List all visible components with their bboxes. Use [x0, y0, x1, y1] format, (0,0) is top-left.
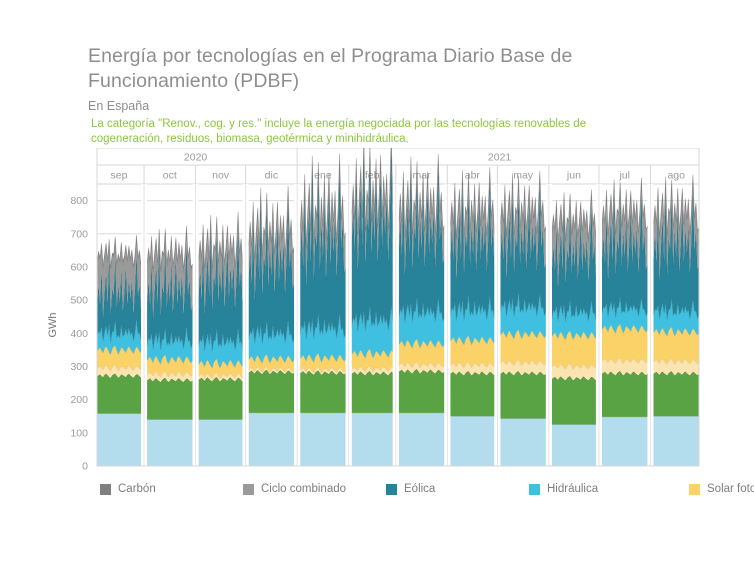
stacked-area-chart: 20202021sepoctnovdicenefebmarabrmayjunju…: [44, 148, 714, 478]
y-tick-800: 800: [70, 195, 88, 207]
legend-item-ciclo-combinado[interactable]: Ciclo combinado: [243, 481, 386, 497]
series-area-renov-cog-y-res: [450, 371, 494, 416]
series-area-nuclear: [97, 414, 141, 466]
series-area-renov-cog-y-res: [97, 373, 141, 413]
page-title: Energía por tecnologías en el Programa D…: [88, 44, 688, 94]
legend-swatch-carbon: [100, 484, 111, 495]
chart-subtitle: En España: [88, 99, 688, 114]
series-area-renov-cog-y-res: [147, 378, 193, 420]
month-label-abr: abr: [465, 170, 481, 182]
chart-date-header: 20202021sepoctnovdicenefebmarabrmayjunju…: [97, 148, 699, 184]
y-tick-500: 500: [70, 295, 88, 307]
chart-page: Energía por tecnologías en el Programa D…: [0, 0, 754, 587]
month-label-dic: dic: [265, 170, 278, 182]
series-area-nuclear: [552, 425, 596, 466]
y-axis-title: GWh: [47, 312, 59, 337]
series-area-renov-cog-y-res: [399, 369, 445, 413]
legend-label-ciclo-combinado: Ciclo combinado: [261, 483, 346, 496]
series-area-renov-cog-y-res: [552, 376, 596, 424]
month-label-jul: jul: [618, 170, 630, 182]
chart-legend: CarbónCiclo combinadoEólicaHidráulicaSol…: [100, 481, 720, 497]
y-tick-300: 300: [70, 361, 88, 373]
series-area-nuclear: [300, 413, 346, 466]
month-label-may: may: [513, 170, 534, 182]
legend-swatch-ciclo-combinado: [243, 484, 254, 495]
series-area-renov-cog-y-res: [653, 371, 699, 416]
y-tick-700: 700: [70, 228, 88, 240]
series-area-nuclear: [500, 419, 546, 466]
y-tick-100: 100: [70, 427, 88, 439]
year-label-2021: 2021: [488, 152, 512, 164]
series-area-nuclear: [147, 420, 193, 466]
series-area-renov-cog-y-res: [199, 377, 243, 419]
legend-swatch-solar-fotovoltaica: [689, 484, 700, 495]
series-area-renov-cog-y-res: [249, 370, 295, 413]
y-tick-0: 0: [82, 461, 88, 473]
month-label-jun: jun: [566, 170, 581, 182]
legend-item-hidraulica[interactable]: Hidráulica: [529, 481, 689, 497]
series-area-renov-cog-y-res: [300, 370, 346, 412]
chart-header: Energía por tecnologías en el Programa D…: [88, 44, 688, 147]
month-label-nov: nov: [212, 170, 230, 182]
legend-swatch-eolica: [386, 484, 397, 495]
chart-plot-container: 20202021sepoctnovdicenefebmarabrmayjunju…: [44, 148, 714, 478]
series-area-renov-cog-y-res: [352, 371, 393, 413]
legend-label-solar-fotovoltaica: Solar fotovoltaica: [707, 483, 754, 496]
month-label-ago: ago: [667, 170, 685, 182]
month-label-sep: sep: [111, 170, 128, 182]
legend-swatch-hidraulica: [529, 484, 540, 495]
y-tick-200: 200: [70, 394, 88, 406]
legend-item-eolica[interactable]: Eólica: [386, 481, 529, 497]
series-area-nuclear: [199, 420, 243, 466]
series-area-nuclear: [399, 413, 445, 466]
series-area-nuclear: [653, 416, 699, 466]
legend-item-solar-fotovoltaica[interactable]: Solar fotovoltaica: [689, 481, 754, 497]
legend-item-carbon[interactable]: Carbón: [100, 481, 243, 497]
y-tick-400: 400: [70, 328, 88, 340]
month-label-feb: feb: [365, 170, 380, 182]
legend-label-carbon: Carbón: [118, 483, 156, 496]
series-area-nuclear: [352, 413, 393, 466]
legend-label-hidraulica: Hidráulica: [547, 483, 598, 496]
legend-label-eolica: Eólica: [404, 483, 435, 496]
series-area-nuclear: [450, 416, 494, 466]
series-area-renov-cog-y-res: [500, 371, 546, 418]
series-area-nuclear: [249, 413, 295, 466]
month-label-mar: mar: [413, 170, 432, 182]
series-area-renov-cog-y-res: [602, 371, 648, 417]
year-label-2020: 2020: [184, 152, 208, 164]
series-area-nuclear: [602, 417, 648, 466]
chart-note: La categoría "Renov., cog. y res." inclu…: [91, 117, 636, 147]
y-tick-600: 600: [70, 261, 88, 273]
month-label-oct: oct: [163, 170, 177, 182]
